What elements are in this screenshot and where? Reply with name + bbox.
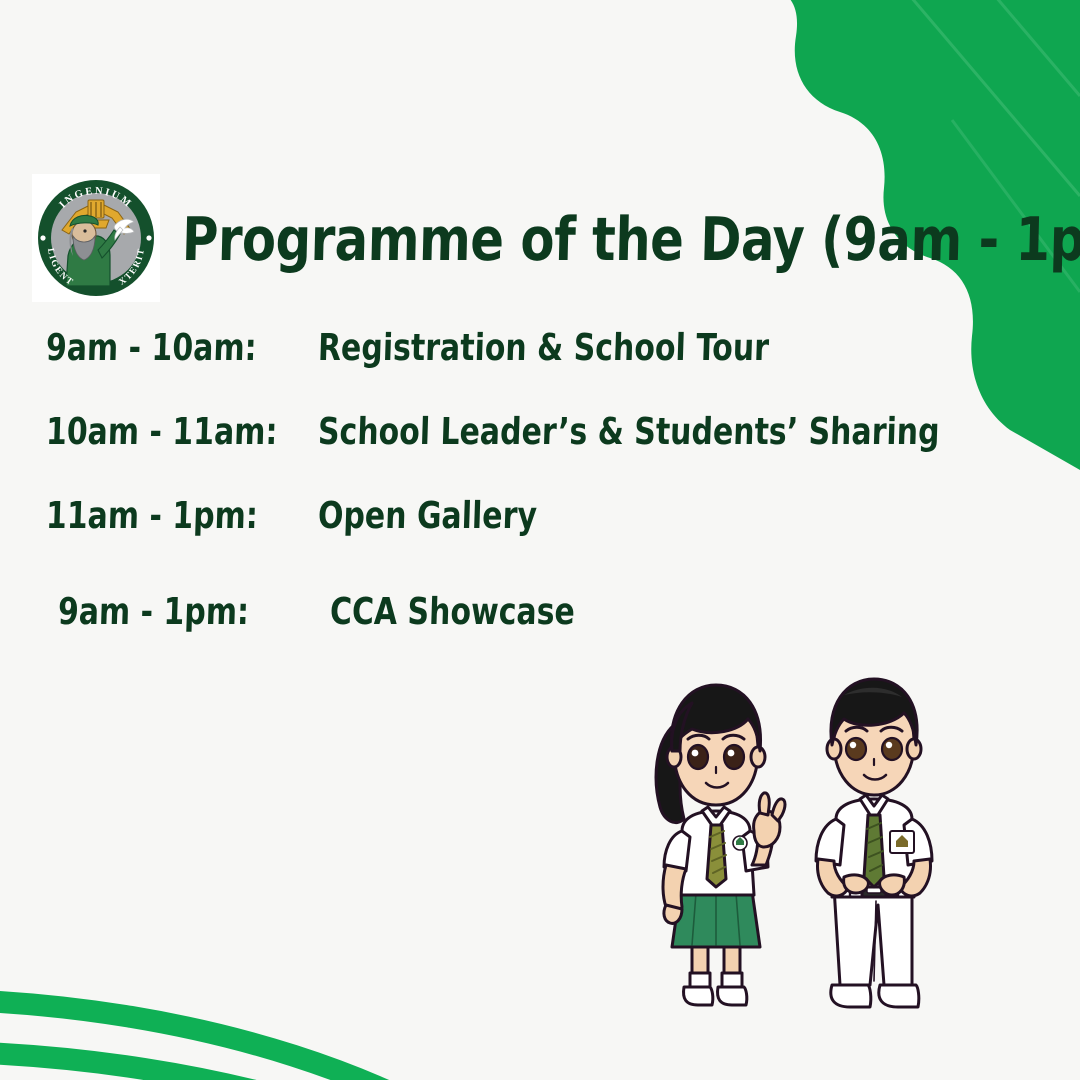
programme-schedule: 9am - 10am: Registration & School Tour 1… (46, 326, 1006, 674)
student-mascots-illustration (612, 655, 1012, 1025)
female-student-mascot (656, 685, 785, 1005)
schedule-time-2: 10am - 11am: (45, 410, 291, 453)
schedule-time-3: 11am - 1pm: (45, 494, 291, 537)
poster-canvas: INGENIUM DILIGENTIA DEXTERITAS Programme… (0, 0, 1080, 1080)
schedule-item-3: Open Gallery (317, 494, 537, 537)
schedule-row-3: 11am - 1pm: Open Gallery (46, 494, 1006, 578)
schedule-row-2: 10am - 11am: School Leader’s & Students’… (46, 410, 1006, 494)
page-title: Programme of the Day (9am - 1pm) (181, 210, 1080, 270)
school-crest-icon: INGENIUM DILIGENTIA DEXTERITAS (32, 174, 160, 302)
schedule-item-1: Registration & School Tour (317, 326, 769, 369)
male-student-mascot (816, 679, 932, 1007)
school-crest: INGENIUM DILIGENTIA DEXTERITAS (32, 174, 160, 302)
poster-header: INGENIUM DILIGENTIA DEXTERITAS Programme… (32, 172, 1080, 304)
schedule-item-4: CCA Showcase (329, 590, 575, 633)
schedule-time-4: 9am - 1pm: (57, 590, 303, 633)
schedule-time-1: 9am - 10am: (45, 326, 291, 369)
schedule-item-2: School Leader’s & Students’ Sharing (317, 410, 940, 453)
student-mascots (612, 655, 1012, 1025)
green-arc-lines-icon (0, 1000, 640, 1080)
schedule-row-1: 9am - 10am: Registration & School Tour (46, 326, 1006, 410)
